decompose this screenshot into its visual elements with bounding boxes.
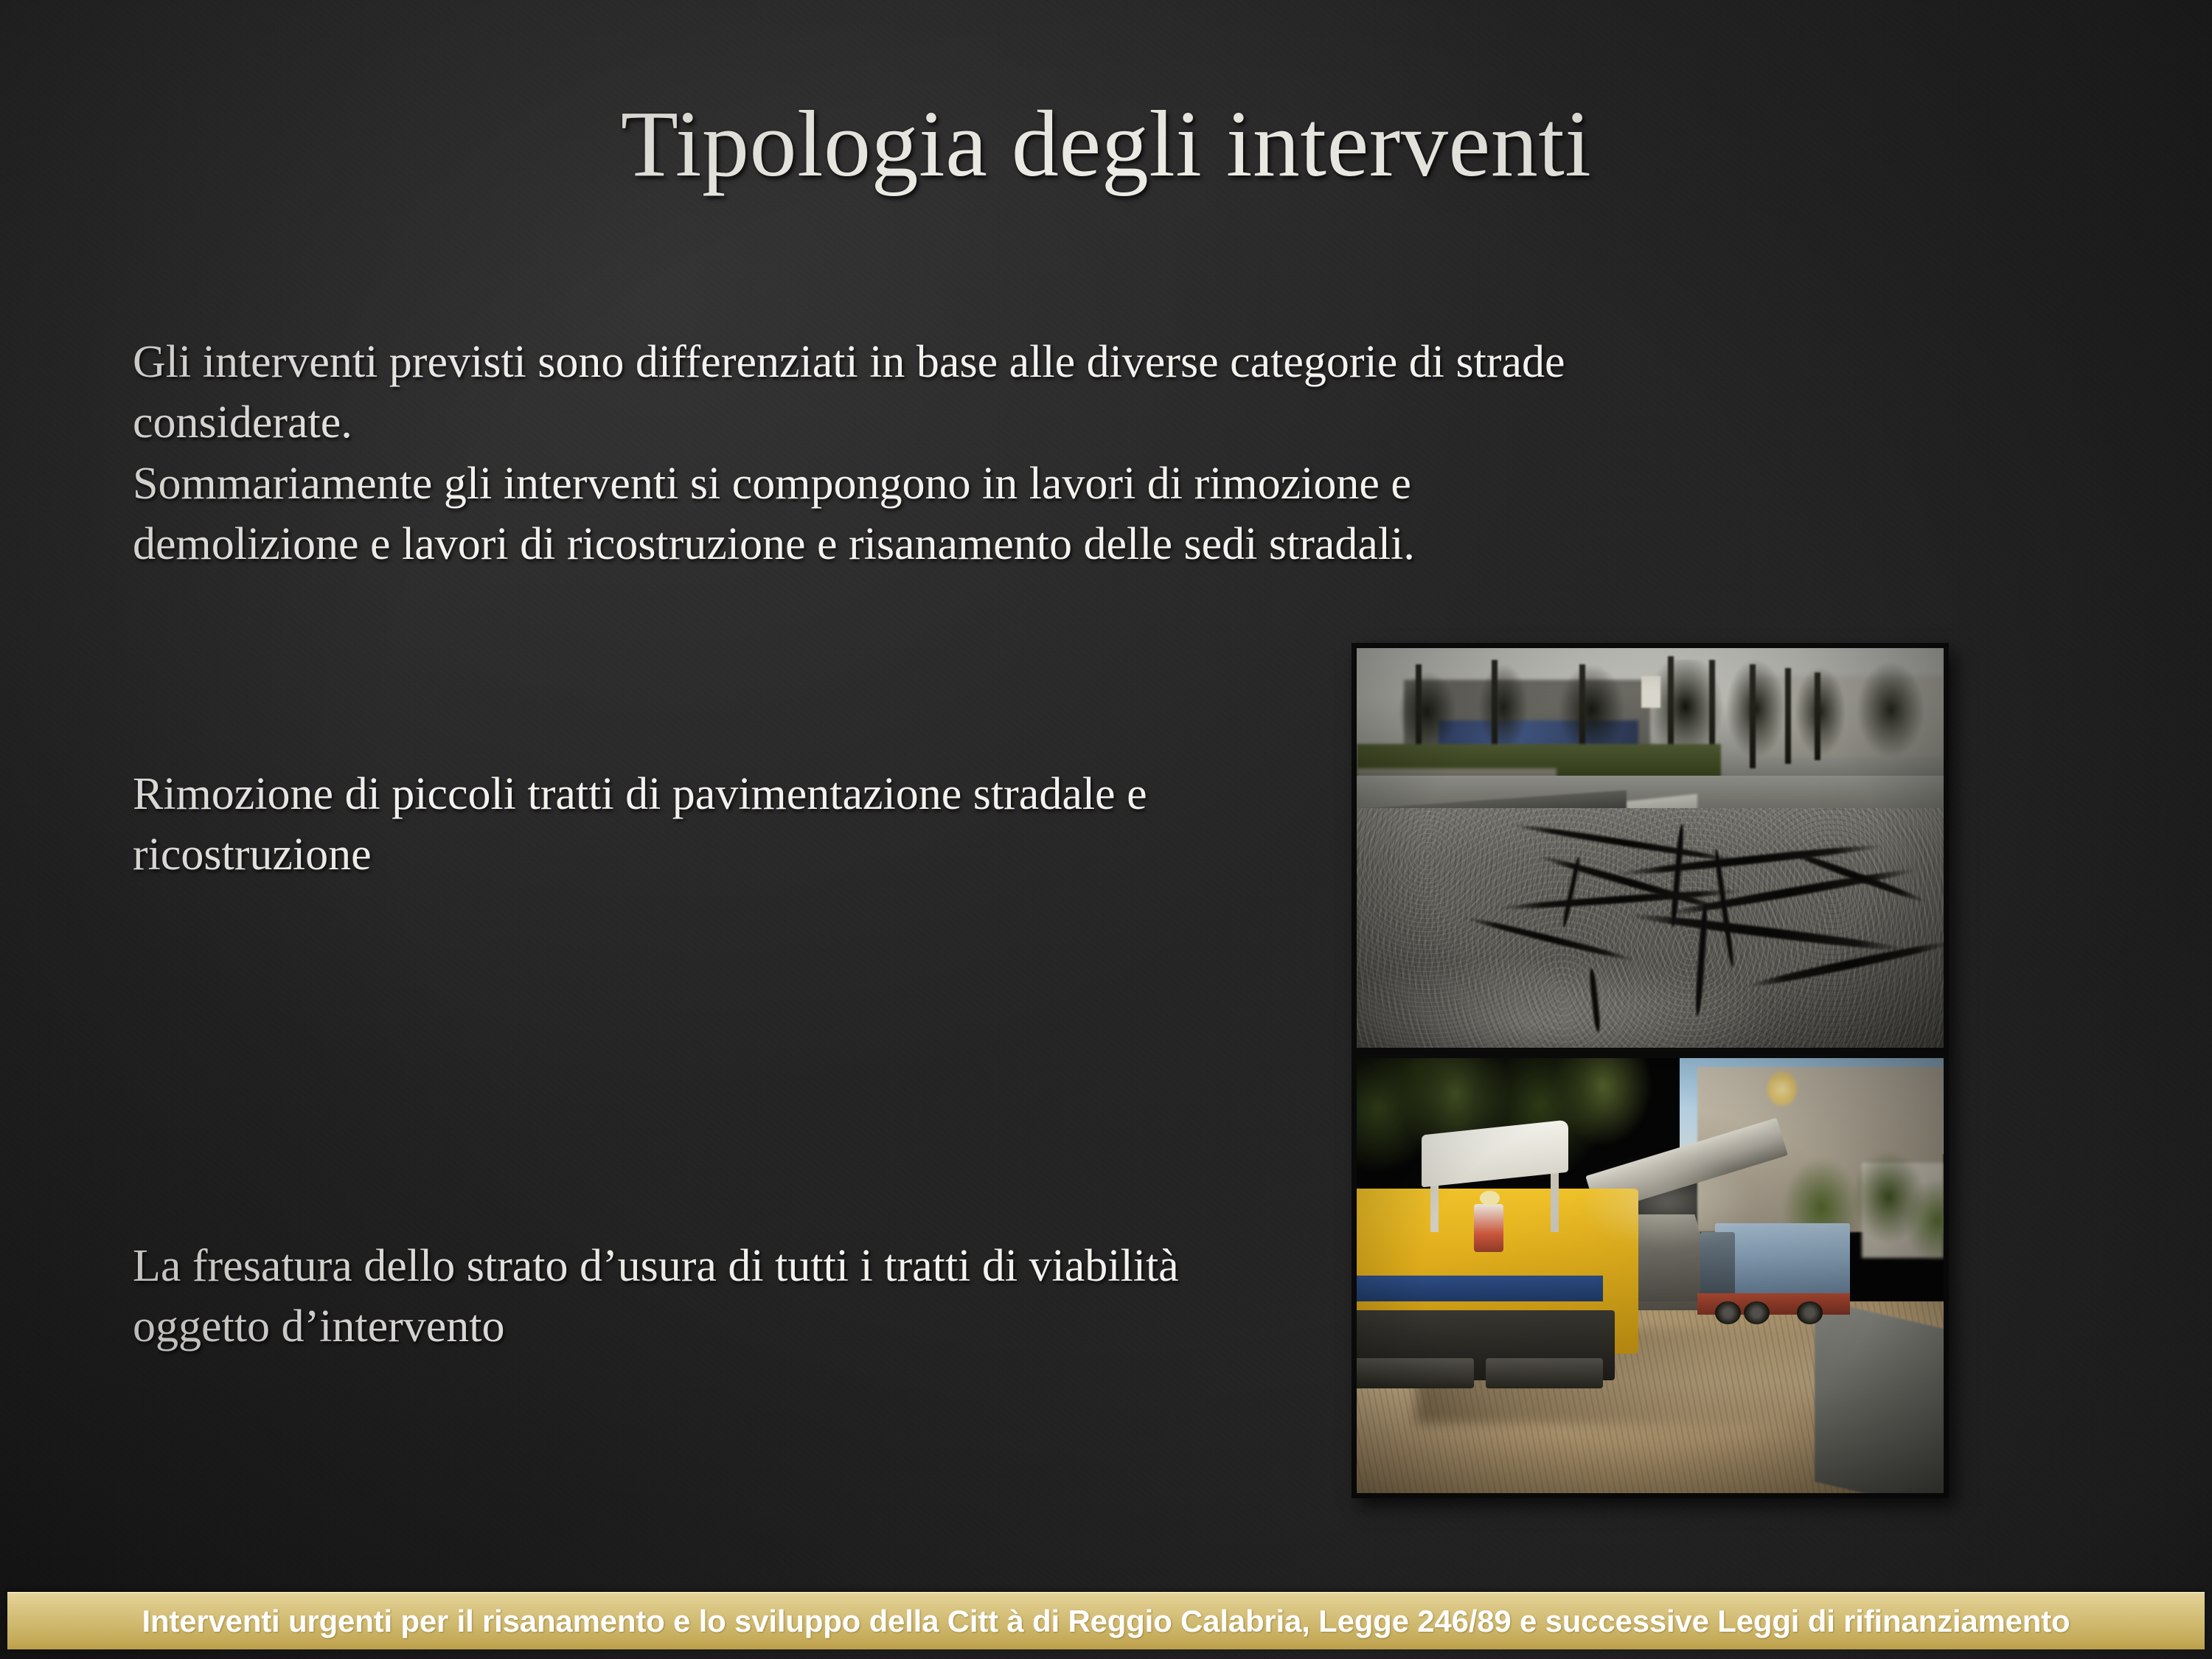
footer-banner: Interventi urgenti per il risanamento e … [7, 1592, 2205, 1649]
intro-line-1: Gli interventi previsti sono differenzia… [133, 332, 1976, 392]
item-label-fresatura: La fresatura dello strato d’usura di tut… [133, 1236, 1283, 1357]
intro-paragraph-block: Gli interventi previsti sono differenzia… [133, 332, 1976, 575]
presentation-slide: Tipologia degli interventi Gli intervent… [0, 0, 2212, 1659]
item-label-rimozione: Rimozione di piccoli tratti di pavimenta… [133, 764, 1327, 886]
intro-line-3: Sommariamente gli interventi si compongo… [133, 453, 1976, 514]
cracked-asphalt-road-photo [1352, 643, 1949, 1053]
photo-stack [1352, 643, 1949, 1498]
footer-text: Interventi urgenti per il risanamento e … [142, 1604, 2070, 1639]
page-title: Tipologia degli interventi [0, 94, 2212, 193]
intro-line-4: demolizione e lavori di ricostruzione e … [133, 514, 1976, 574]
intro-line-2: considerate. [133, 392, 1976, 453]
road-milling-machine-photo [1352, 1053, 1949, 1498]
